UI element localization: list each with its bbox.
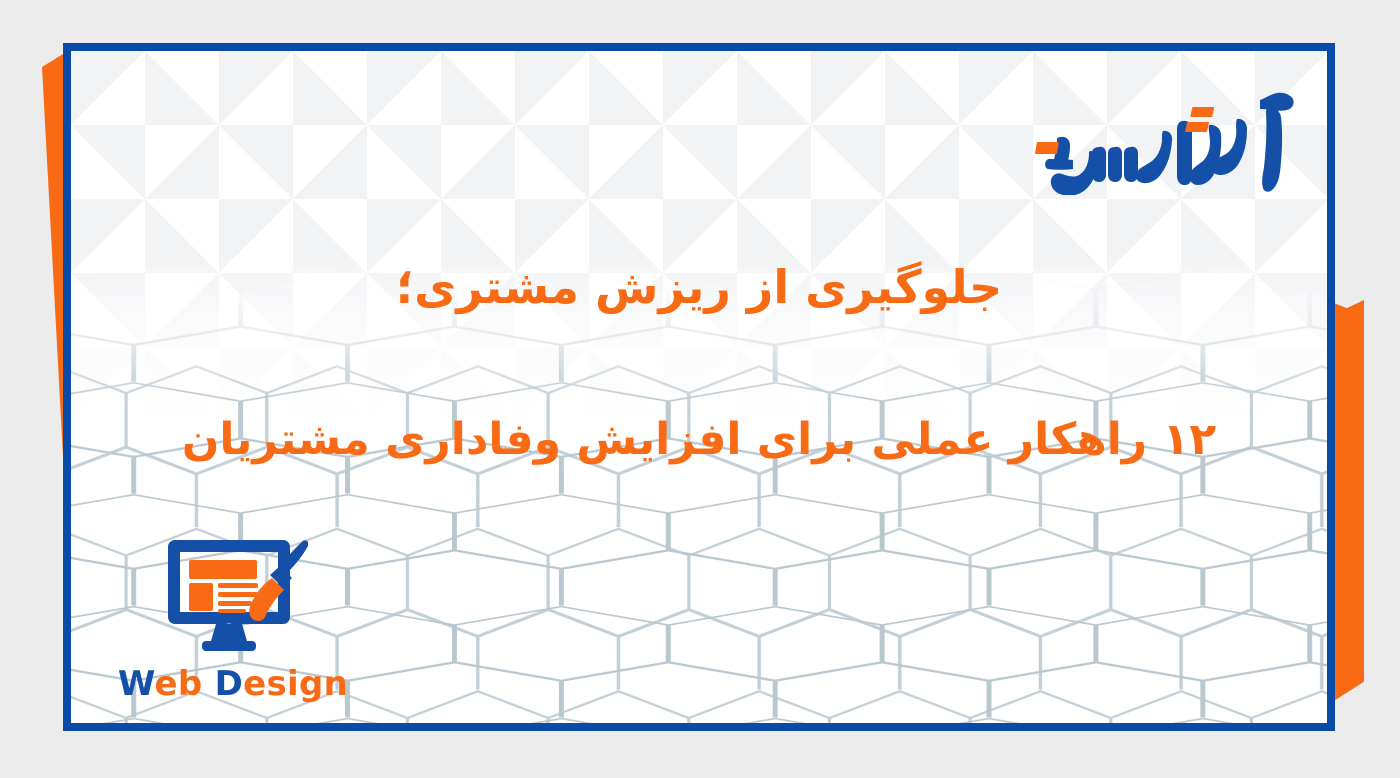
label-part-esign: esign xyxy=(243,664,348,704)
label-part-eb: eb xyxy=(154,664,202,704)
label-part-w: W xyxy=(118,664,155,704)
headline-line-1: جلوگیری از ریزش مشتری؛ xyxy=(71,256,1327,318)
web-design-badge: Web Design xyxy=(113,535,353,701)
label-part-d: D xyxy=(215,664,244,704)
label-space xyxy=(202,664,214,704)
blue-frame-border: جلوگیری از ریزش مشتری؛ ۱۲ راهکار عملی بر… xyxy=(63,43,1335,731)
banner-canvas: جلوگیری از ریزش مشتری؛ ۱۲ راهکار عملی بر… xyxy=(0,0,1400,778)
monitor-paintbrush-icon xyxy=(158,535,308,665)
arzarasaneh-logo xyxy=(1031,85,1299,195)
headline-line-2: ۱۲ راهکار عملی برای افزایش وفاداری مشتری… xyxy=(71,410,1327,469)
headline-block: جلوگیری از ریزش مشتری؛ ۱۲ راهکار عملی بر… xyxy=(71,256,1327,469)
web-design-label: Web Design xyxy=(113,667,353,701)
